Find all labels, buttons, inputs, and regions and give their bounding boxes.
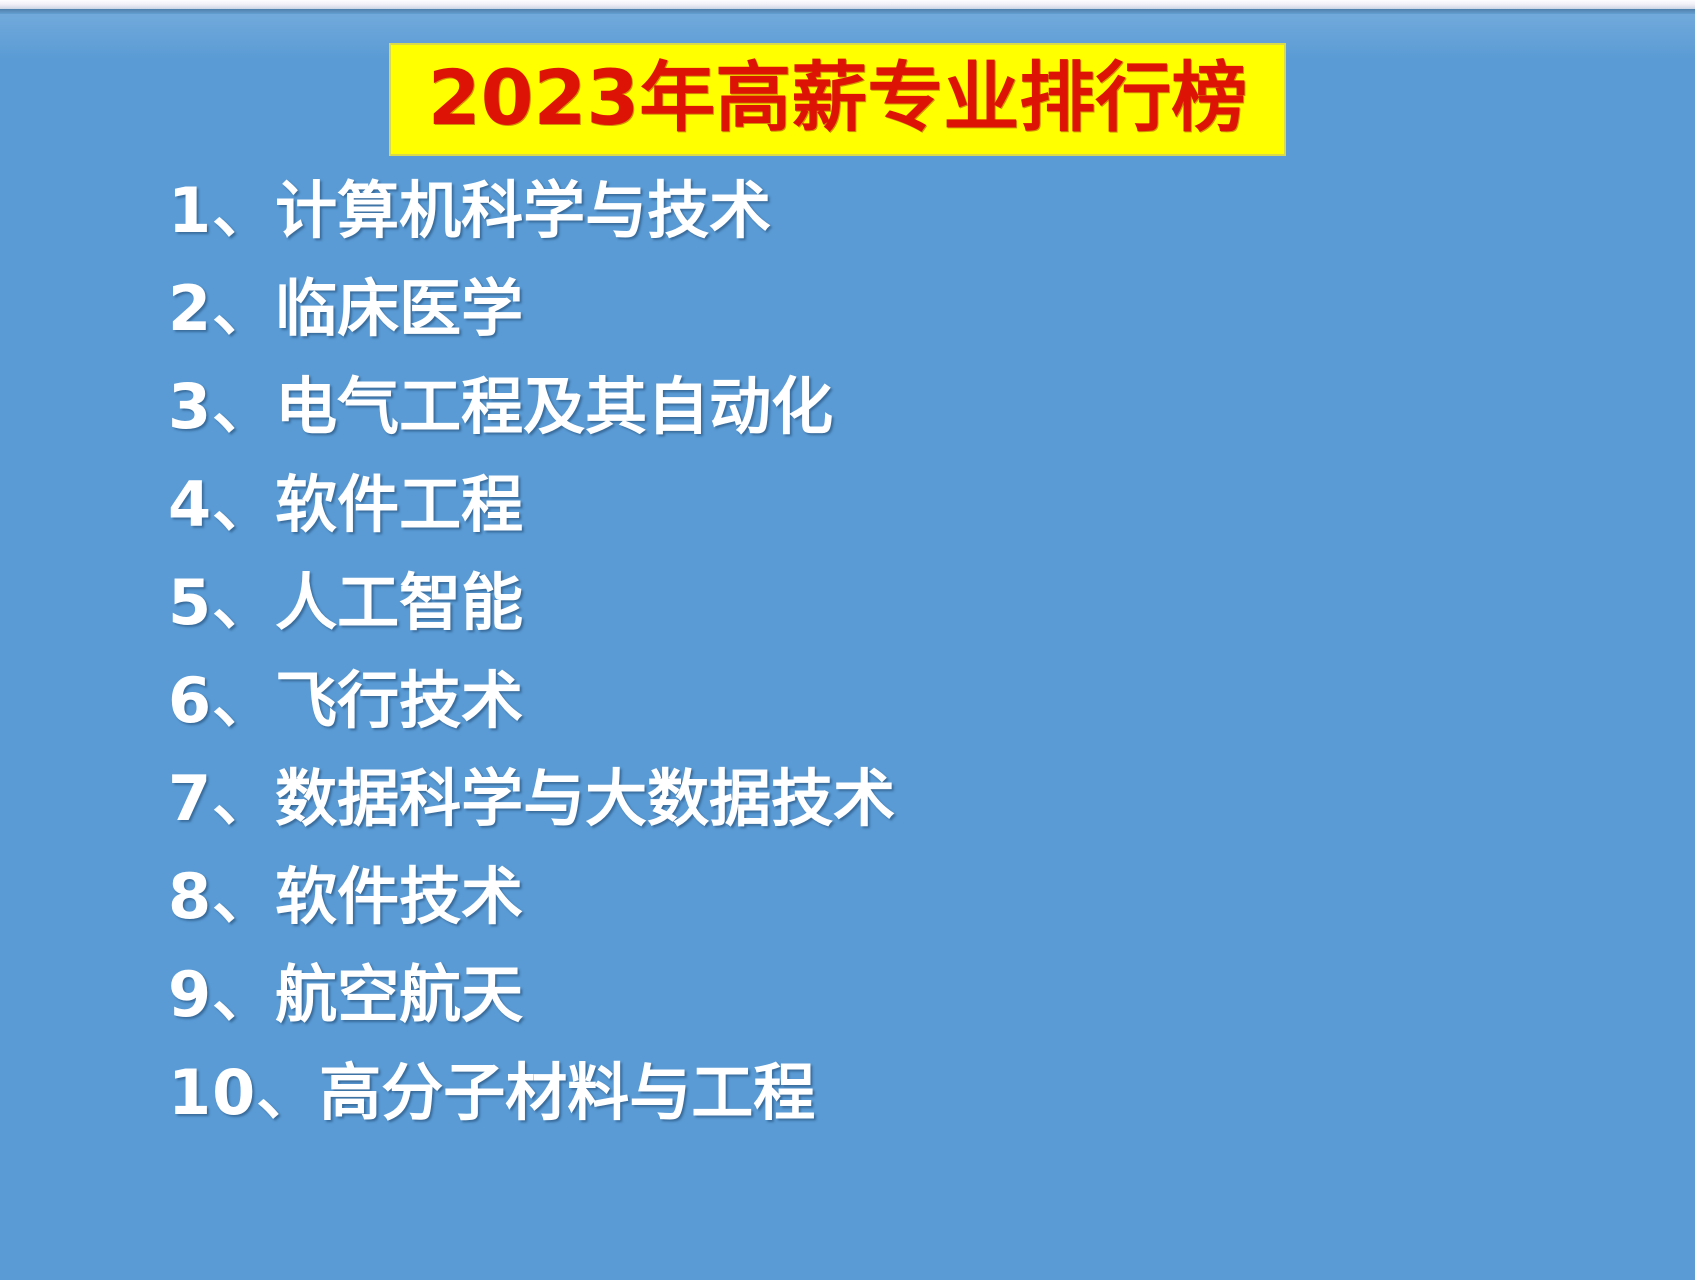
list-item-label: 电气工程及其自动化	[275, 358, 833, 456]
ranking-list: 1、 计算机科学与技术 2、 临床医学 3、 电气工程及其自动化 4、 软件工程…	[0, 162, 1695, 1142]
list-item-label: 软件工程	[275, 456, 523, 554]
list-item-label: 航空航天	[275, 946, 523, 1044]
title-banner: 2023年高薪专业排行榜	[389, 43, 1286, 156]
list-item: 3、 电气工程及其自动化	[0, 358, 1695, 456]
list-item-number: 2、	[168, 260, 275, 358]
top-edge-rule	[0, 9, 1695, 14]
list-item-number: 9、	[168, 946, 275, 1044]
list-item-number: 3、	[168, 358, 275, 456]
list-item: 9、 航空航天	[0, 946, 1695, 1044]
list-item: 6、 飞行技术	[0, 652, 1695, 750]
list-item-label: 计算机科学与技术	[275, 162, 771, 260]
list-item-label: 人工智能	[275, 554, 523, 652]
list-item-label: 软件技术	[275, 848, 523, 946]
list-item-label: 临床医学	[275, 260, 523, 358]
list-item-number: 8、	[168, 848, 275, 946]
list-item-number: 7、	[168, 750, 275, 848]
list-item: 7、 数据科学与大数据技术	[0, 750, 1695, 848]
top-edge-strip	[0, 0, 1695, 9]
list-item: 2、 临床医学	[0, 260, 1695, 358]
list-item: 5、 人工智能	[0, 554, 1695, 652]
page-title: 2023年高薪专业排行榜	[428, 60, 1248, 136]
list-item: 1、 计算机科学与技术	[0, 162, 1695, 260]
list-item: 4、 软件工程	[0, 456, 1695, 554]
list-item-label: 高分子材料与工程	[319, 1044, 815, 1142]
list-item-number: 10、	[168, 1044, 319, 1142]
list-item-number: 6、	[168, 652, 275, 750]
list-item: 8、 软件技术	[0, 848, 1695, 946]
list-item-number: 1、	[168, 162, 275, 260]
list-item-number: 5、	[168, 554, 275, 652]
list-item-label: 飞行技术	[275, 652, 523, 750]
list-item-number: 4、	[168, 456, 275, 554]
list-item-label: 数据科学与大数据技术	[275, 750, 895, 848]
list-item: 10、 高分子材料与工程	[0, 1044, 1695, 1142]
slide-canvas: 2023年高薪专业排行榜 1、 计算机科学与技术 2、 临床医学 3、 电气工程…	[0, 0, 1695, 1280]
